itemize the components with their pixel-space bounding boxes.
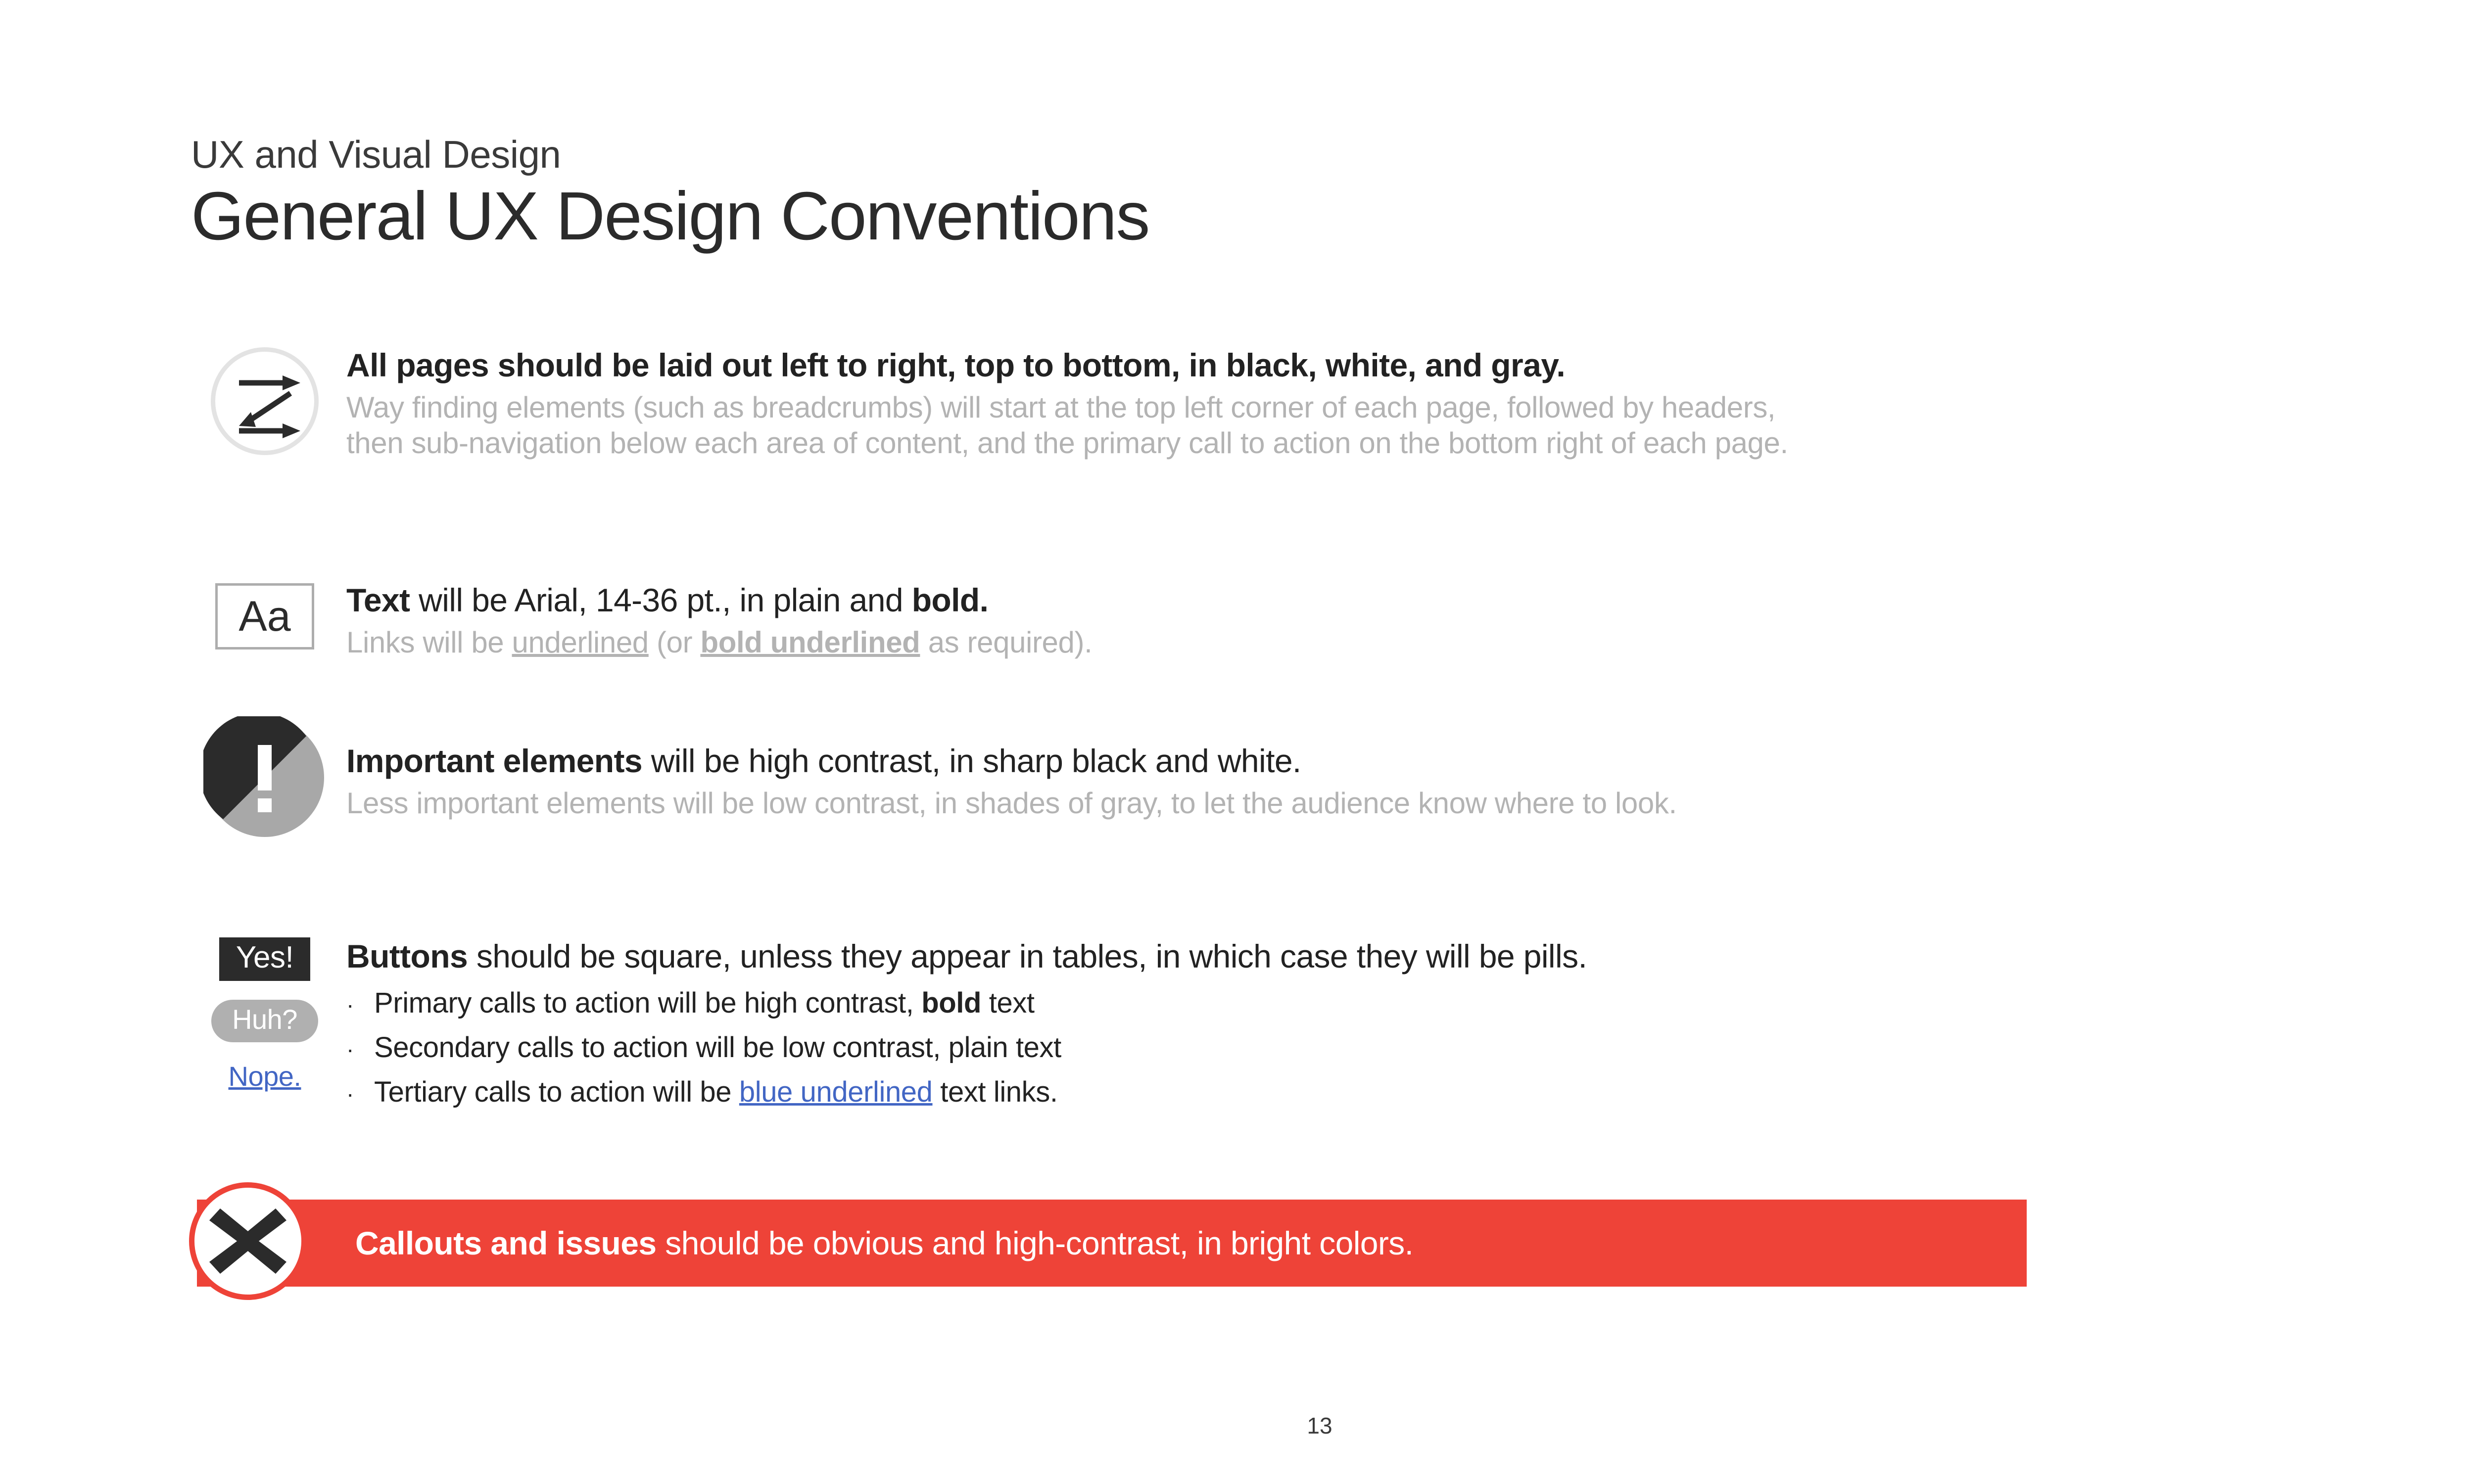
buttons-text-column: Buttons should be square, unless they ap… (346, 937, 2474, 1107)
primary-button-sample[interactable]: Yes! (219, 937, 310, 981)
bullet-plain-2: text (981, 987, 1035, 1019)
bullet-plain-3: text links. (933, 1076, 1058, 1108)
exclamation-pie-icon (203, 716, 326, 839)
buttons-icon-column: Yes! Huh? Nope. (183, 937, 346, 1092)
z-pattern-icon (211, 347, 319, 455)
important-lead-plain: will be high contrast, in sharp black an… (642, 742, 1301, 779)
list-item: · Secondary calls to action will be low … (346, 1033, 2474, 1062)
important-text-column: Important elements will be high contrast… (346, 742, 2474, 821)
bullet-text: Secondary calls to action will be low co… (374, 1033, 1061, 1062)
text-sub-plain-1: Links will be (346, 626, 512, 659)
text-sub-bold-underlined-link[interactable]: bold underlined (700, 626, 920, 659)
important-icon-column (183, 742, 346, 839)
layout-text-column: All pages should be laid out left to rig… (346, 346, 2474, 461)
page-number: 13 (0, 1412, 2474, 1439)
bullet-plain-1: Primary calls to action will be high con… (374, 987, 921, 1019)
buttons-lead-plain: should be square, unless they appear in … (468, 938, 1587, 974)
slide-canvas: UX and Visual Design General UX Design C… (0, 0, 2474, 1484)
text-lead-bold-1: Text (346, 582, 410, 618)
bullet-marker-icon: · (346, 1082, 374, 1105)
buttons-bullet-list: · Primary calls to action will be high c… (346, 989, 2474, 1107)
secondary-pill-button-sample[interactable]: Huh? (211, 1000, 318, 1042)
convention-row-layout: All pages should be laid out left to rig… (183, 346, 2474, 461)
text-text-column: Text will be Arial, 14-36 pt., in plain … (346, 581, 2474, 660)
section-eyebrow: UX and Visual Design (191, 134, 2467, 175)
bullet-bold: bold (921, 987, 981, 1019)
layout-sub-line-1: Way finding elements (such as breadcrumb… (346, 391, 1775, 424)
callout-lead-plain: should be obvious and high-contrast, in … (656, 1225, 1413, 1261)
important-lead: Important elements will be high contrast… (346, 742, 2474, 781)
layout-sub: Way finding elements (such as breadcrumb… (346, 390, 2474, 461)
buttons-lead-bold: Buttons (346, 938, 468, 974)
layout-icon-column (183, 346, 346, 455)
callout-text: Callouts and issues should be obvious an… (355, 1225, 1413, 1261)
aa-typography-icon: Aa (215, 583, 314, 649)
list-item: · Tertiary calls to action will be blue … (346, 1078, 2474, 1107)
tertiary-link-sample[interactable]: Nope. (229, 1060, 301, 1092)
x-mark-icon (189, 1182, 307, 1300)
callout-lead-bold: Callouts and issues (355, 1225, 656, 1261)
bullet-blue-link[interactable]: blue underlined (739, 1076, 933, 1108)
bullet-plain-1: Tertiary calls to action will be (374, 1076, 739, 1108)
bullet-marker-icon: · (346, 1038, 374, 1061)
important-sub: Less important elements will be low cont… (346, 786, 2474, 821)
convention-row-important: Important elements will be high contrast… (183, 742, 2474, 839)
layout-lead: All pages should be laid out left to rig… (346, 346, 2474, 385)
text-sub: Links will be underlined (or bold underl… (346, 625, 2474, 660)
text-sub-plain-3: as required). (920, 626, 1092, 659)
text-sub-plain-2: (or (649, 626, 701, 659)
buttons-lead: Buttons should be square, unless they ap… (346, 937, 2474, 976)
callout-banner: Callouts and issues should be obvious an… (197, 1200, 2027, 1287)
text-sub-underlined-link[interactable]: underlined (512, 626, 649, 659)
text-icon-column: Aa (183, 581, 346, 649)
layout-lead-text: All pages should be laid out left to rig… (346, 347, 1565, 383)
text-lead: Text will be Arial, 14-36 pt., in plain … (346, 581, 2474, 620)
page-title: General UX Design Conventions (191, 178, 2467, 255)
bullet-text: Primary calls to action will be high con… (374, 989, 1035, 1018)
convention-row-text: Aa Text will be Arial, 14-36 pt., in pla… (183, 581, 2474, 660)
text-lead-bold-2: bold. (912, 582, 989, 618)
layout-sub-line-2: then sub-navigation below each area of c… (346, 426, 1788, 460)
bullet-plain-1: Secondary calls to action will be low co… (374, 1031, 1061, 1064)
list-item: · Primary calls to action will be high c… (346, 989, 2474, 1018)
convention-row-buttons: Yes! Huh? Nope. Buttons should be square… (183, 937, 2474, 1107)
text-lead-plain-1: will be Arial, 14-36 pt., in plain and (410, 582, 911, 618)
bullet-text: Tertiary calls to action will be blue un… (374, 1078, 1058, 1107)
important-lead-bold: Important elements (346, 742, 642, 779)
bullet-marker-icon: · (346, 993, 374, 1016)
slide-header: UX and Visual Design General UX Design C… (191, 134, 2467, 255)
